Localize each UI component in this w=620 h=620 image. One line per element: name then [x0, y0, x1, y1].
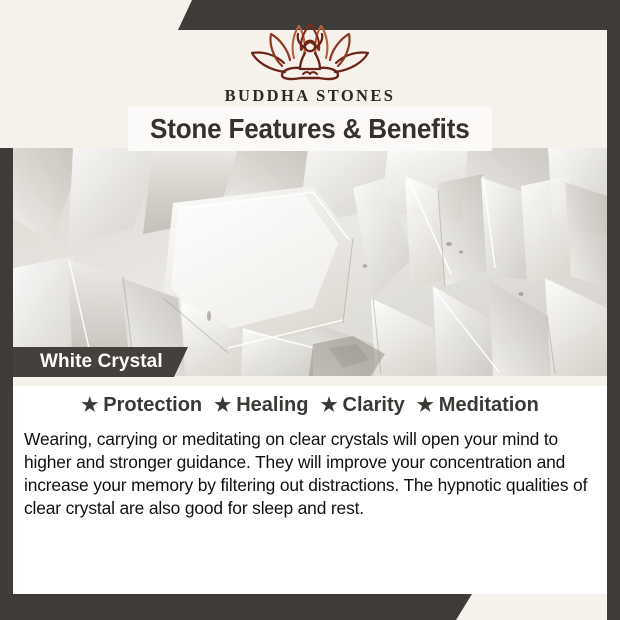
- brand-name: BUDDHA STONES: [225, 86, 396, 106]
- stone-name-tag: White Crystal: [13, 347, 188, 377]
- panel-top-strip: [13, 376, 607, 386]
- star-icon: ★: [81, 396, 98, 415]
- benefit-label: Clarity: [343, 394, 405, 417]
- benefit-label: Protection: [103, 394, 202, 417]
- crystal-photo: [13, 148, 607, 376]
- description-text: Wearing, carrying or meditating on clear…: [24, 428, 604, 521]
- benefit-label: Meditation: [439, 394, 539, 417]
- stone-info-card: BUDDHA STONES Stone Features & Benefits: [0, 0, 620, 620]
- benefit-item-protection: ★ Protection: [81, 394, 202, 417]
- star-icon: ★: [320, 396, 337, 415]
- page-title: Stone Features & Benefits: [150, 113, 469, 145]
- frame-left-bar: [0, 148, 13, 620]
- lotus-meditation-icon: [249, 22, 371, 84]
- star-icon: ★: [417, 396, 434, 415]
- star-icon: ★: [214, 396, 231, 415]
- crystal-photo-image: [13, 148, 607, 376]
- benefits-row: ★ Protection ★ Healing ★ Clarity ★ Medit…: [13, 394, 607, 417]
- title-banner: Stone Features & Benefits: [128, 107, 492, 151]
- content-panel: ★ Protection ★ Healing ★ Clarity ★ Medit…: [13, 376, 607, 594]
- benefit-item-clarity: ★ Clarity: [320, 394, 404, 417]
- benefit-item-meditation: ★ Meditation: [417, 394, 539, 417]
- benefit-item-healing: ★ Healing: [214, 394, 308, 417]
- frame-bottom-bar: [0, 594, 472, 620]
- benefit-label: Healing: [236, 394, 308, 417]
- brand-logo: BUDDHA STONES: [0, 22, 620, 107]
- stone-name-label: White Crystal: [13, 351, 163, 373]
